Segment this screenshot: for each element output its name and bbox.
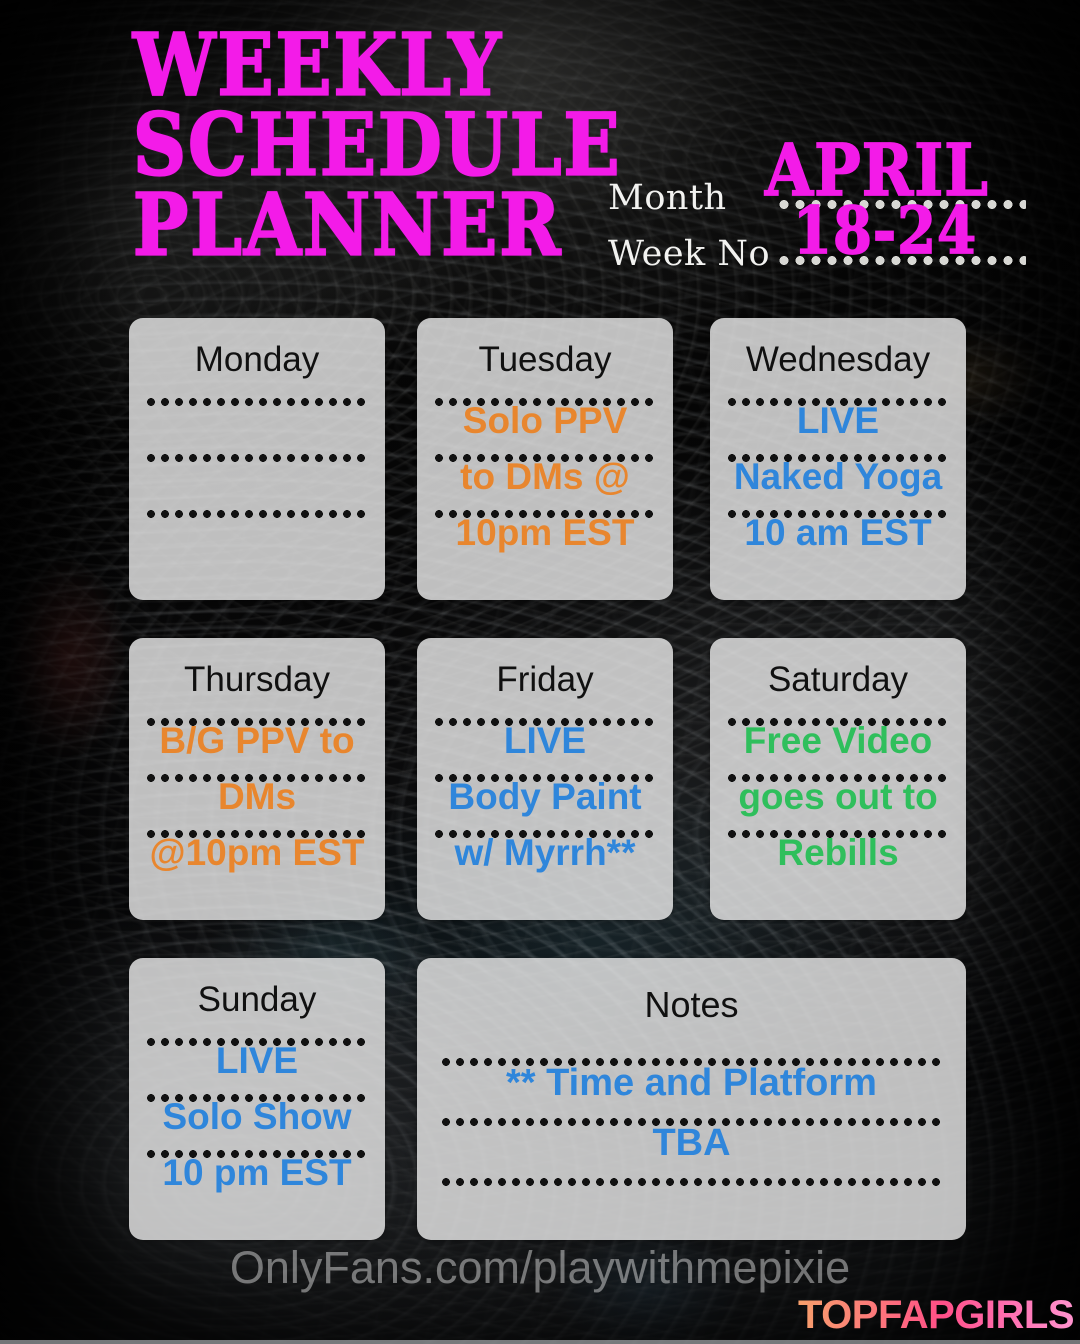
entry-text: Naked Yoga <box>690 458 987 497</box>
entry-text: 10 am EST <box>690 514 987 553</box>
entry-row[interactable]: TBA <box>417 1116 966 1176</box>
entry-row[interactable]: Rebills <box>710 828 966 884</box>
entry-text: to DMs @ <box>397 458 694 497</box>
entry-text: w/ Myrrh** <box>397 834 694 873</box>
bottom-edge-strip <box>0 1340 1080 1344</box>
entry-text: 10 pm EST <box>109 1154 406 1193</box>
day-card-body-sunday: LIVE Solo Show 10 pm EST <box>129 1036 385 1204</box>
entry-row[interactable]: DMs <box>129 772 385 828</box>
poster-header: Weekly Schedule Planner Month April Week… <box>0 0 1080 310</box>
entry-row[interactable]: goes out to <box>710 772 966 828</box>
poster-footer: OnlyFans.com/playwithmepixie TOPFAPGIRLS <box>0 1234 1080 1344</box>
day-card-monday[interactable]: Monday <box>129 318 385 600</box>
header-meta-fields: Month April Week No 18-24 <box>608 130 1038 290</box>
day-card-body-thursday: B/G PPV to DMs @10pm EST <box>129 716 385 884</box>
dotted-rule <box>144 510 369 518</box>
entry-text: DMs <box>109 778 406 817</box>
day-card-friday[interactable]: Friday LIVE Body Paint w/ Myrrh** <box>417 638 673 920</box>
entry-text: Free Video <box>690 722 987 761</box>
dotted-rule <box>144 398 369 406</box>
entry-row[interactable]: 10 am EST <box>710 508 966 564</box>
entry-row[interactable]: LIVE <box>710 396 966 452</box>
entry-text: Body Paint <box>397 778 694 817</box>
month-label: Month <box>608 178 727 218</box>
entry-row[interactable]: LIVE <box>417 716 673 772</box>
notes-card[interactable]: Notes ** Time and Platform TBA <box>417 958 966 1240</box>
dotted-rule <box>144 454 369 462</box>
entry-row[interactable] <box>129 396 385 452</box>
entry-text: LIVE <box>397 722 694 761</box>
dotted-rule <box>439 1178 944 1186</box>
notes-card-body: ** Time and Platform TBA <box>417 1056 966 1236</box>
onlyfans-url[interactable]: OnlyFans.com/playwithmepixie <box>0 1242 1080 1294</box>
entry-text: TBA <box>417 1124 966 1164</box>
entry-text: Rebills <box>690 834 987 873</box>
entry-row[interactable]: w/ Myrrh** <box>417 828 673 884</box>
entry-text: goes out to <box>690 778 987 817</box>
day-card-saturday[interactable]: Saturday Free Video goes out to Rebills <box>710 638 966 920</box>
entry-row[interactable] <box>129 452 385 508</box>
day-card-body-friday: LIVE Body Paint w/ Myrrh** <box>417 716 673 884</box>
week-number-label: Week No <box>608 234 770 274</box>
entry-text: LIVE <box>109 1042 406 1081</box>
day-card-body-monday <box>129 396 385 564</box>
day-card-title-monday: Monday <box>129 340 385 380</box>
entry-text: Solo PPV <box>397 402 694 441</box>
entry-row[interactable]: @10pm EST <box>129 828 385 884</box>
week-number-value[interactable]: 18-24 <box>793 193 977 269</box>
entry-row[interactable]: LIVE <box>129 1036 385 1092</box>
topfapgirls-watermark: TOPFAPGIRLS <box>798 1293 1074 1338</box>
day-card-title-friday: Friday <box>417 660 673 700</box>
entry-row[interactable]: Solo PPV <box>417 396 673 452</box>
day-card-tuesday[interactable]: Tuesday Solo PPV to DMs @ 10pm EST <box>417 318 673 600</box>
entry-row[interactable]: Naked Yoga <box>710 452 966 508</box>
entry-row[interactable] <box>417 1176 966 1236</box>
entry-text: @10pm EST <box>109 834 406 873</box>
day-card-sunday[interactable]: Sunday LIVE Solo Show 10 pm EST <box>129 958 385 1240</box>
entry-row[interactable]: 10 pm EST <box>129 1148 385 1204</box>
entry-row[interactable]: to DMs @ <box>417 452 673 508</box>
entry-text: B/G PPV to <box>109 722 406 761</box>
day-card-body-tuesday: Solo PPV to DMs @ 10pm EST <box>417 396 673 564</box>
entry-row[interactable]: Solo Show <box>129 1092 385 1148</box>
entry-text: ** Time and Platform <box>417 1064 966 1104</box>
day-card-body-wednesday: LIVE Naked Yoga 10 am EST <box>710 396 966 564</box>
week-field-row: Week No 18-24 <box>608 234 1038 286</box>
entry-row[interactable] <box>129 508 385 564</box>
entry-text: 10pm EST <box>397 514 694 553</box>
day-card-body-saturday: Free Video goes out to Rebills <box>710 716 966 884</box>
entry-row[interactable]: 10pm EST <box>417 508 673 564</box>
entry-row[interactable]: Body Paint <box>417 772 673 828</box>
schedule-poster: Weekly Schedule Planner Month April Week… <box>0 0 1080 1344</box>
day-card-title-saturday: Saturday <box>710 660 966 700</box>
day-card-title-tuesday: Tuesday <box>417 340 673 380</box>
entry-row[interactable]: ** Time and Platform <box>417 1056 966 1116</box>
day-card-title-thursday: Thursday <box>129 660 385 700</box>
page-title-line-1: Weekly <box>133 26 704 104</box>
day-card-title-wednesday: Wednesday <box>710 340 966 380</box>
entry-text: LIVE <box>690 402 987 441</box>
day-card-thursday[interactable]: Thursday B/G PPV to DMs @10pm EST <box>129 638 385 920</box>
entry-row[interactable]: B/G PPV to <box>129 716 385 772</box>
day-card-title-sunday: Sunday <box>129 980 385 1020</box>
notes-card-title: Notes <box>417 984 966 1026</box>
entry-text: Solo Show <box>109 1098 406 1137</box>
day-card-wednesday[interactable]: Wednesday LIVE Naked Yoga 10 am EST <box>710 318 966 600</box>
entry-row[interactable]: Free Video <box>710 716 966 772</box>
